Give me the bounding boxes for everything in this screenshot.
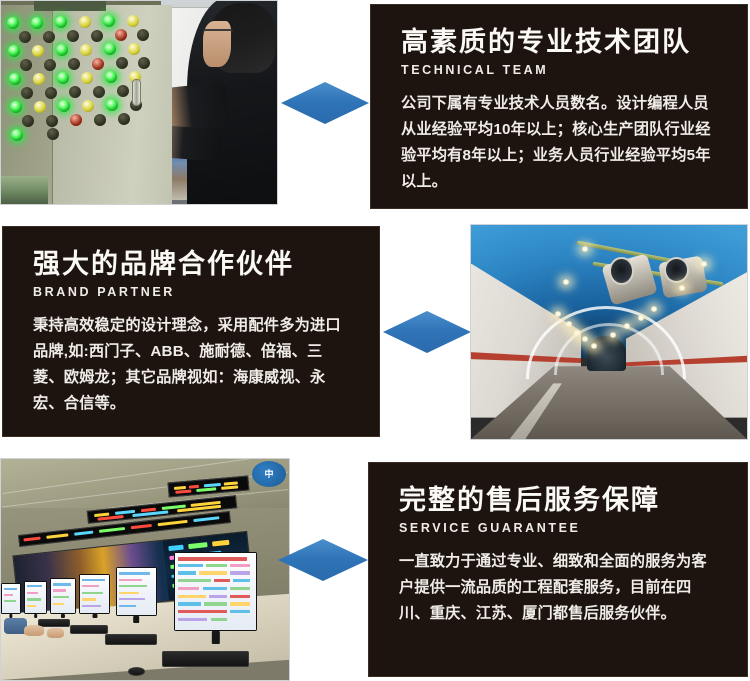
indicator-lamp-green [103, 15, 115, 27]
screen-element [230, 571, 250, 574]
photo-tunnel-project [470, 224, 748, 440]
indicator-lamp-off [19, 31, 31, 43]
panel-title-brand-partner: 强大的品牌合作伙伴 [33, 249, 353, 280]
screen-element [4, 600, 16, 602]
tunnel-light [554, 311, 562, 317]
workstation-monitor [116, 567, 156, 616]
screen-element [206, 564, 227, 567]
indicator-lamp-off [46, 115, 58, 127]
screen-element [214, 579, 230, 582]
screen-element [178, 602, 201, 605]
monitor-screen-primary [175, 553, 257, 631]
monitor-stand [34, 614, 38, 618]
workstation-monitor [1, 583, 21, 614]
screen-element [178, 595, 206, 598]
panel-technical-team: 高素质的专业技术团队 TECHNICAL TEAM 公司下属有专业技术人员数名。… [370, 4, 748, 209]
screen-element [27, 598, 40, 600]
monitor-stand [92, 614, 97, 619]
screen-element [211, 618, 227, 621]
ticker-segment [174, 485, 187, 489]
indicator-lamp-green [9, 73, 21, 85]
scada-block [169, 545, 185, 551]
tunnel-light [609, 332, 617, 338]
screen-element [230, 564, 250, 567]
floor-box [1, 176, 48, 204]
company-logo: 中 [252, 461, 286, 487]
ceiling-bar [34, 1, 106, 11]
photo-technical-team-content [1, 1, 277, 204]
keyboard [38, 619, 70, 627]
screen-element [178, 618, 207, 621]
scada-block [189, 542, 208, 549]
screen-element [82, 592, 103, 594]
screen-element [178, 610, 227, 613]
screen-element [82, 579, 105, 581]
screen-element [233, 579, 249, 582]
screen-element [119, 605, 136, 607]
mouse [128, 667, 145, 676]
technician-glasses [203, 29, 233, 37]
ticker-segment [99, 527, 125, 533]
monitor-stand [61, 614, 65, 619]
promotional-infographic: 高素质的专业技术团队 TECHNICAL TEAM 公司下属有专业技术人员数名。… [0, 0, 750, 681]
indicator-lamp-green [7, 17, 19, 29]
indicator-lamp-green [57, 72, 69, 84]
indicator-lamp-off [45, 87, 57, 99]
cabinet-handle [132, 79, 141, 106]
indicator-lamp-green [56, 44, 68, 56]
keyboard [162, 651, 248, 666]
screen-element [178, 571, 196, 574]
indicator-lamp-off [138, 57, 150, 69]
ticker-segment [158, 520, 188, 526]
monitor-stand [134, 616, 140, 623]
screen-element [119, 598, 144, 600]
panel-subtitle-brand-partner: BRAND PARTNER [33, 285, 353, 299]
indicator-lamp-green [11, 129, 23, 141]
operator-hand [24, 625, 44, 636]
photo-tunnel-content [471, 225, 747, 439]
tunnel-light [637, 315, 645, 321]
screen-element [82, 585, 99, 587]
monitor-screen [117, 568, 155, 615]
indicator-lamp-green [8, 45, 20, 57]
panel-subtitle-technical-team: TECHNICAL TEAM [401, 63, 721, 77]
ventilation-duct-mouth [609, 257, 634, 285]
indicator-lamp-off [91, 30, 103, 42]
screen-element [119, 585, 147, 587]
screen-element [53, 583, 71, 585]
screen-element [53, 589, 66, 591]
indicator-lamp-off [137, 29, 149, 41]
screen-element [27, 592, 38, 594]
ticker-segment [196, 488, 217, 493]
workstation-monitor [24, 581, 47, 614]
indicator-lamp-yellow [127, 15, 139, 27]
panel-body-service-guarantee: 一直致力于通过专业、细致和全面的服务为客户提供一流品质的工程配套服务，目前在四川… [399, 549, 721, 627]
screen-element [53, 603, 64, 605]
indicator-lamp-green [106, 99, 118, 111]
ticker-segment [203, 482, 220, 486]
ticker-segment [194, 516, 220, 522]
ticker-segment [224, 481, 238, 485]
indicator-lamp-green [55, 16, 67, 28]
screen-element [178, 557, 246, 560]
indicator-lamp-red [70, 114, 82, 126]
ticker-segment [24, 536, 41, 541]
indicator-lamp-off [116, 57, 128, 69]
panel-title-service-guarantee: 完整的售后服务保障 [399, 485, 721, 516]
screen-element [27, 585, 42, 587]
panel-brand-partner: 强大的品牌合作伙伴 BRAND PARTNER 秉持高效稳定的设计理念，采用配件… [2, 226, 380, 437]
operator-hand [47, 628, 64, 638]
scada-block [212, 540, 229, 547]
screen-element [203, 587, 227, 590]
screen-element [204, 602, 227, 605]
screen-element [178, 587, 199, 590]
indicator-lamp-off [43, 31, 55, 43]
connector-diamond-1 [281, 82, 369, 124]
technician-face [203, 21, 231, 67]
workstation-monitor [50, 578, 76, 613]
indicator-lamp-off [44, 59, 56, 71]
monitor-screen [2, 584, 20, 613]
connector-diamond-2 [383, 311, 471, 353]
monitor-screen [51, 579, 75, 612]
workstation-monitor-primary [174, 552, 258, 632]
ticker-segment [221, 486, 238, 490]
monitor-screen [25, 582, 46, 613]
indicator-lamp-red [92, 58, 104, 70]
screen-element [4, 594, 13, 596]
indicator-lamp-yellow [80, 44, 92, 56]
indicator-lamp-off [47, 128, 59, 140]
ticker-segment [98, 515, 125, 521]
screen-element [230, 587, 250, 590]
connector-diamond-3 [278, 539, 368, 581]
screen-element [119, 592, 138, 594]
indicator-lamp-green [105, 71, 117, 83]
screen-element [209, 595, 227, 598]
ticker-segment [131, 524, 152, 529]
panel-subtitle-service-guarantee: SERVICE GUARANTEE [399, 521, 721, 535]
indicator-lamp-off [94, 114, 106, 126]
indicator-lamp-off [117, 85, 129, 97]
tunnel-light [678, 285, 686, 291]
workstation-monitor [79, 574, 111, 614]
screen-element [53, 596, 69, 598]
screen-element [230, 610, 250, 613]
screen-element [230, 602, 250, 605]
screen-element [27, 605, 36, 607]
indicator-lamp-red [115, 29, 127, 41]
indicator-lamp-green [104, 43, 116, 55]
panel-title-technical-team: 高素质的专业技术团队 [401, 27, 721, 58]
ticker-segment [74, 531, 93, 536]
indicator-lamp-yellow [34, 101, 46, 113]
tunnel-light [573, 330, 581, 336]
screen-element [178, 564, 202, 567]
indicator-lamp-yellow [82, 100, 94, 112]
indicator-lamp-yellow [32, 45, 44, 57]
photo-technical-team [0, 0, 278, 205]
screen-element [230, 595, 250, 598]
tunnel-light [562, 279, 570, 285]
screen-element [178, 579, 211, 582]
indicator-lamp-off [68, 58, 80, 70]
indicator-lamp-off [22, 115, 34, 127]
indicator-lamp-off [21, 87, 33, 99]
indicator-lamp-green [10, 101, 22, 113]
indicator-lamp-yellow [81, 72, 93, 84]
ticker-segment [47, 533, 68, 538]
screen-element [119, 579, 141, 581]
ventilation-duct-mouth [664, 257, 689, 283]
screen-element [82, 598, 96, 600]
monitor-stand [211, 631, 219, 644]
keyboard [70, 625, 107, 634]
ticker-segment [176, 490, 192, 494]
indicator-lamp-off [93, 86, 105, 98]
indicator-lamp-green [31, 17, 43, 29]
monitor-screen [80, 575, 110, 613]
screen-element [82, 605, 100, 607]
ticker-segment [189, 484, 199, 488]
indicator-lamp-yellow [33, 73, 45, 85]
keyboard [105, 634, 157, 645]
indicator-lamp-off [118, 113, 130, 125]
indicator-lamp-off [20, 59, 32, 71]
photo-control-room: 中 [0, 458, 290, 681]
indicator-lamp-off [67, 30, 79, 42]
indicator-lamp-array [5, 15, 151, 147]
indicator-lamp-off [69, 86, 81, 98]
panel-body-technical-team: 公司下属有专业技术人员数名。设计编程人员从业经验平均10年以上；核心生产团队行业… [401, 91, 721, 196]
indicator-lamp-yellow [79, 16, 91, 28]
screen-element [199, 571, 227, 574]
tunnel-light [590, 343, 598, 349]
indicator-lamp-yellow [128, 43, 140, 55]
panel-body-brand-partner: 秉持高效稳定的设计理念，采用配件多为进口品牌,如:西门子、ABB、施耐德、倍福、… [33, 313, 353, 418]
screen-element [119, 572, 150, 574]
panel-service-guarantee: 完整的售后服务保障 SERVICE GUARANTEE 一直致力于通过专业、细致… [368, 462, 748, 677]
screen-element [4, 588, 17, 590]
indicator-lamp-green [58, 100, 70, 112]
photo-control-room-content: 中 [1, 459, 289, 680]
